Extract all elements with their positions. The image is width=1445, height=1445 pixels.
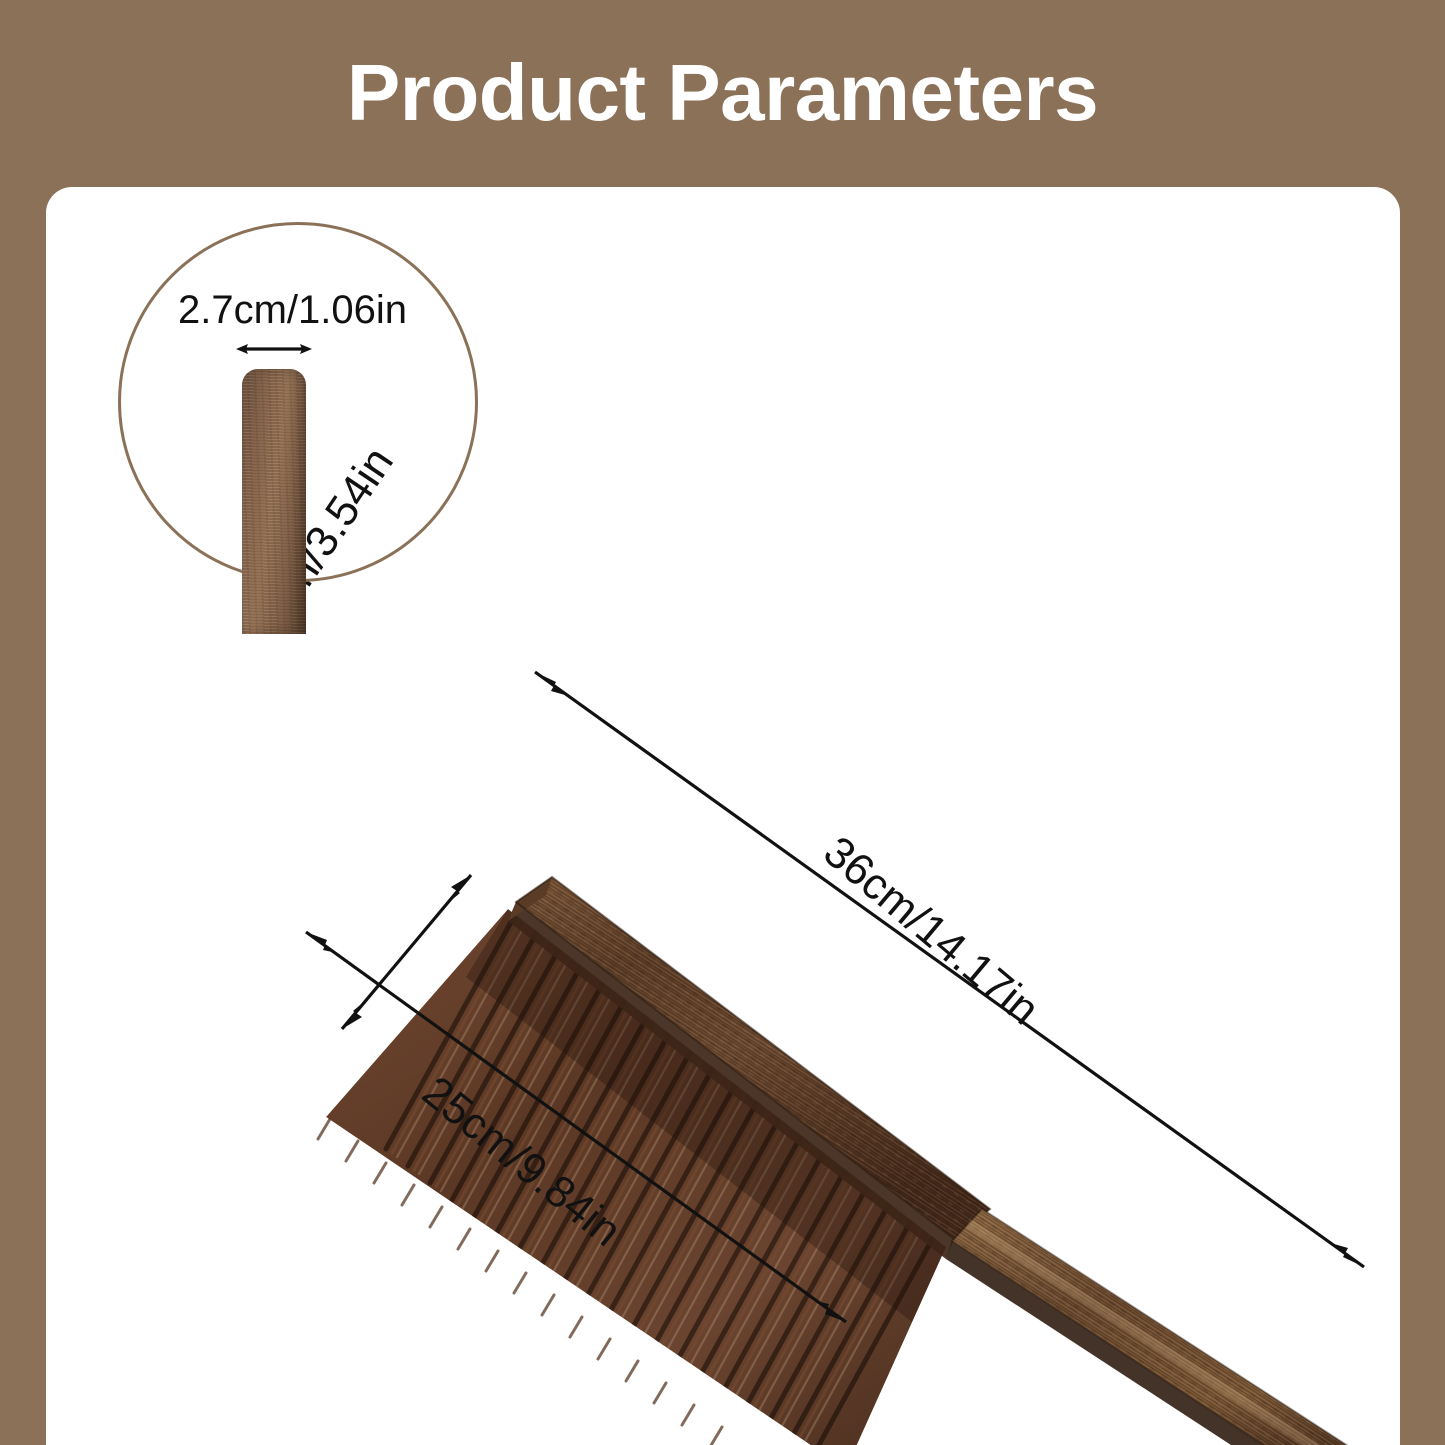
handle-tip-closeup [242, 369, 306, 634]
content-card: 9cm/3.54in 36cm/14.17in 25cm/9.84in 2.7c… [46, 187, 1400, 1445]
page-title: Product Parameters [0, 46, 1445, 140]
dimension-label-handle-width: 2.7cm/1.06in [178, 287, 407, 333]
product-parameters-image: Product Parameters [0, 0, 1445, 1445]
dimension-arrow-handle-width [234, 339, 314, 359]
